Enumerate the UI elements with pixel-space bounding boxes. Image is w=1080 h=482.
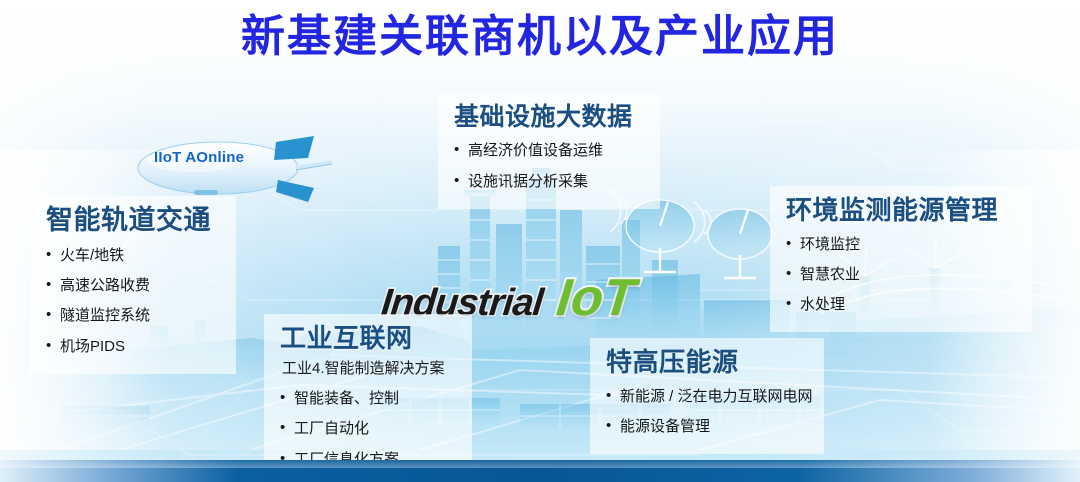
list-item: 能源设备管理 [606,412,810,442]
panel-infrastructure-big-data: 基础设施大数据 高经济价值设备运维 设施讯据分析采集 [438,94,660,209]
list-item: 机场PIDS [46,332,222,362]
panel-heading: 基础设施大数据 [454,102,646,133]
blimp-graphic: IIoT AOnline [136,124,332,206]
list-item: 高经济价值设备运维 [454,136,646,166]
wordmark-iot: IoT [554,268,638,328]
slide-canvas: 新基建关联商机以及产业应用 IIoT AOnline Industrial Io [0,0,1080,482]
panel-item-list: 新能源 / 泛在电力互联网电网 能源设备管理 [606,382,810,443]
list-item: 隧道监控系统 [46,301,222,331]
panel-item-list: 环境监控 智慧农业 水处理 [786,230,1018,321]
list-item: 智慧农业 [786,260,1018,290]
list-item: 工厂自动化 [280,414,458,444]
panel-item-list: 高经济价值设备运维 设施讯据分析采集 [454,136,646,197]
list-item: 环境监控 [786,230,1018,260]
list-item: 设施讯据分析采集 [454,167,646,197]
panel-subtitle: 工业4.智能制造解决方案 [282,358,458,381]
panel-heading: 工业互联网 [280,322,458,355]
panel-industrial-internet: 工业互联网 工业4.智能制造解决方案 智能装备、控制 工厂自动化 工厂信息化方案 [264,314,472,482]
list-item: 智能装备、控制 [280,384,458,414]
list-item: 火车/地铁 [46,241,222,271]
list-item: 高速公路收费 [46,271,222,301]
panel-smart-rail-transit: 智能轨道交通 火车/地铁 高速公路收费 隧道监控系统 机场PIDS [30,196,236,374]
list-item: 水处理 [786,290,1018,320]
panel-heading: 特高压能源 [606,346,810,379]
panel-heading: 智能轨道交通 [46,204,222,238]
page-title: 新基建关联商机以及产业应用 [0,14,1080,61]
panel-item-list: 火车/地铁 高速公路收费 隧道监控系统 机场PIDS [46,241,222,362]
blimp-label: IIoT AOnline [154,149,244,166]
panel-environment-energy-management: 环境监测能源管理 环境监控 智慧农业 水处理 [770,186,1032,332]
list-item: 新能源 / 泛在电力互联网电网 [606,382,810,412]
bottom-accent-bar [0,460,1080,482]
panel-heading: 环境监测能源管理 [786,194,1018,227]
panel-uhv-energy: 特高压能源 新能源 / 泛在电力互联网电网 能源设备管理 [590,338,824,454]
